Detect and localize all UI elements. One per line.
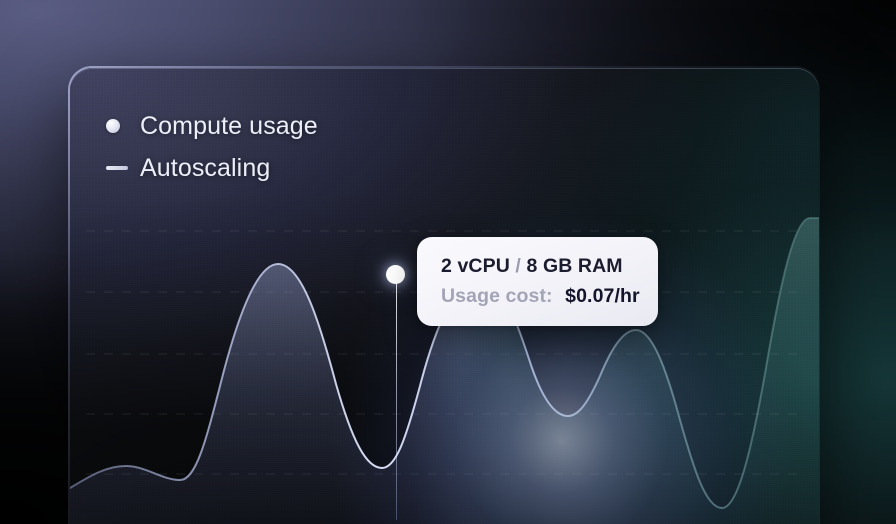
tooltip-cost-label: Usage cost: [441, 285, 553, 307]
tooltip-cpu: 2 vCPU [441, 255, 510, 277]
legend-item-compute-usage[interactable]: Compute usage [106, 105, 318, 147]
legend-label-autoscaling: Autoscaling [140, 154, 270, 183]
legend-marker-slot [106, 166, 140, 170]
dash-marker-icon [106, 166, 128, 170]
tooltip-ram: 8 GB RAM [526, 255, 622, 277]
legend-label-compute-usage: Compute usage [140, 112, 318, 141]
tooltip-separator: / [515, 255, 521, 277]
hover-crosshair-line [396, 276, 397, 520]
chart-legend: Compute usage Autoscaling [106, 105, 318, 189]
legend-item-autoscaling[interactable]: Autoscaling [106, 147, 318, 189]
hover-data-point[interactable] [386, 265, 405, 284]
screenshot-root: Compute usage Autoscaling 2 vCPU / 8 GB … [0, 0, 896, 524]
tooltip-cost-line: Usage cost: $0.07/hr [441, 285, 636, 308]
tooltip-cost-value: $0.07/hr [565, 285, 640, 307]
chart-tooltip: 2 vCPU / 8 GB RAM Usage cost: $0.07/hr [417, 237, 658, 326]
dot-marker-icon [106, 119, 120, 133]
legend-marker-slot [106, 119, 140, 133]
tooltip-spec-line: 2 vCPU / 8 GB RAM [441, 255, 636, 278]
